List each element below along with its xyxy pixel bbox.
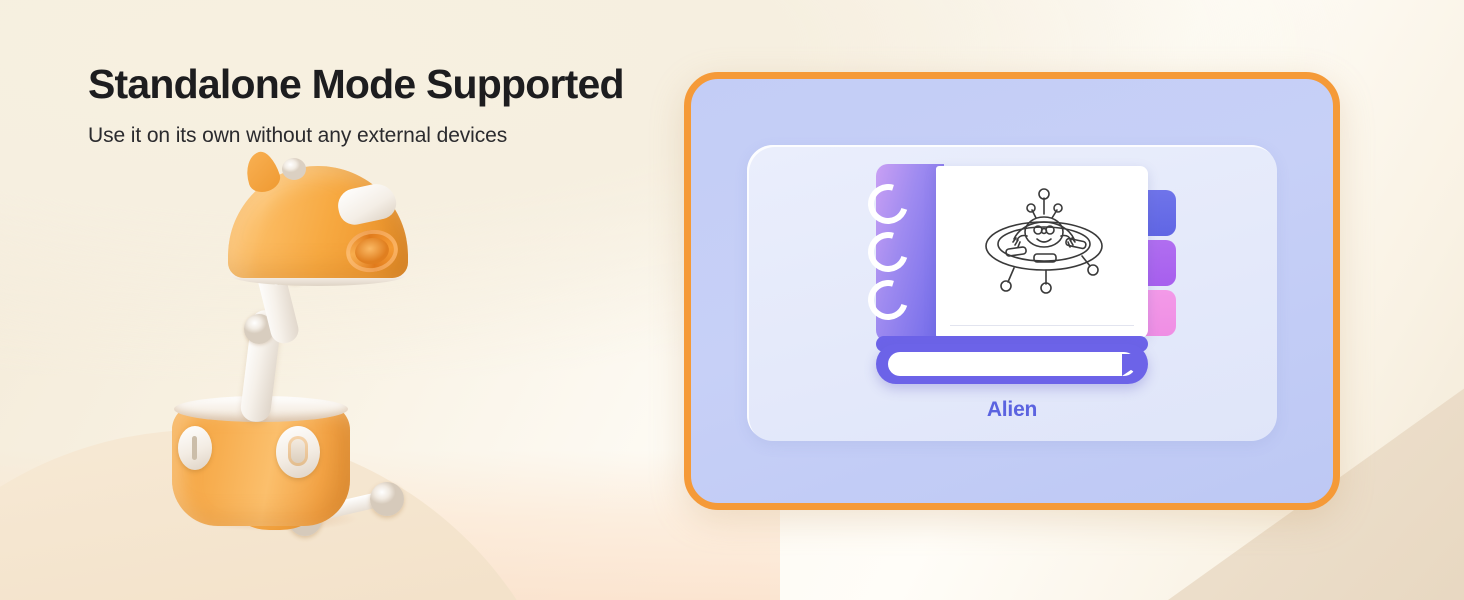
ufo-alien-icon <box>970 184 1118 312</box>
page-title: Standalone Mode Supported <box>88 62 708 108</box>
product-device-image <box>150 150 440 540</box>
book-base-inner <box>888 352 1136 376</box>
book-tab-pink <box>1146 290 1176 336</box>
book-title-label: Alien <box>987 398 1037 422</box>
book-tab-purple <box>1146 240 1176 286</box>
roller-ball-right <box>370 482 404 516</box>
app-screen-frame: Alien <box>684 72 1340 510</box>
page-rule-line <box>950 325 1134 326</box>
device-button-right <box>276 426 320 478</box>
book-illustration <box>862 164 1162 380</box>
device-button-left <box>178 426 212 470</box>
page-subtitle: Use it on its own without any external d… <box>88 124 708 148</box>
book-page <box>936 166 1148 338</box>
book-card[interactable]: Alien <box>747 145 1277 441</box>
book-tab-blue <box>1146 190 1176 236</box>
copy-block: Standalone Mode Supported Use it on its … <box>88 62 708 148</box>
device-head-nub <box>282 158 306 180</box>
